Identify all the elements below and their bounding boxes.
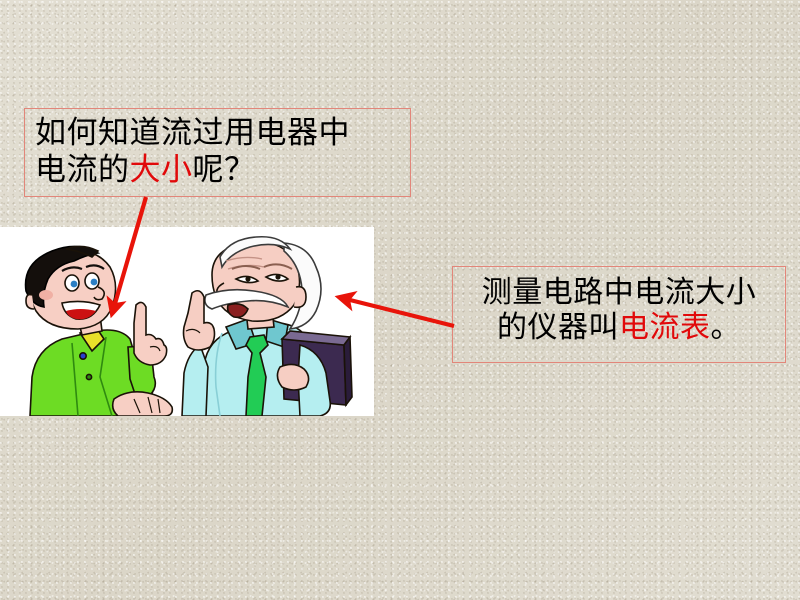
question-callout: 如何知道流过用电器中 电流的大小呢？ — [24, 108, 411, 197]
slide-canvas: 如何知道流过用电器中 电流的大小呢？ 测量电路中电流大小 的仪器叫电流表。 — [0, 0, 800, 600]
clipart-svg — [0, 227, 374, 416]
pupil-left — [71, 281, 78, 288]
answer-callout: 测量电路中电流大小 的仪器叫电流表。 — [452, 266, 786, 363]
hand-on-book — [277, 364, 308, 390]
jacket-button-2 — [86, 374, 91, 379]
answer-line2-suffix: 。 — [711, 310, 742, 345]
question-line-1: 如何知道流过用电器中 — [35, 115, 410, 152]
pupil-right — [91, 279, 98, 286]
pupil-right — [275, 274, 280, 279]
cheek — [39, 290, 53, 300]
question-line2-prefix: 电流的 — [35, 152, 130, 188]
answer-line2-prefix: 的仪器叫 — [497, 310, 619, 345]
answer-line-1: 测量电路中电流大小 — [457, 275, 781, 310]
pupil-left — [245, 276, 250, 281]
question-highlight: 大小 — [130, 152, 193, 188]
clipart-image — [0, 227, 374, 416]
answer-line-2: 的仪器叫电流表。 — [457, 310, 781, 345]
jacket-button-1 — [80, 353, 86, 359]
question-line2-suffix: 呢？ — [193, 152, 256, 188]
answer-highlight: 电流表 — [619, 310, 711, 345]
ear — [294, 287, 306, 308]
question-line-2: 电流的大小呢？ — [35, 152, 410, 189]
book-spine — [344, 337, 352, 405]
